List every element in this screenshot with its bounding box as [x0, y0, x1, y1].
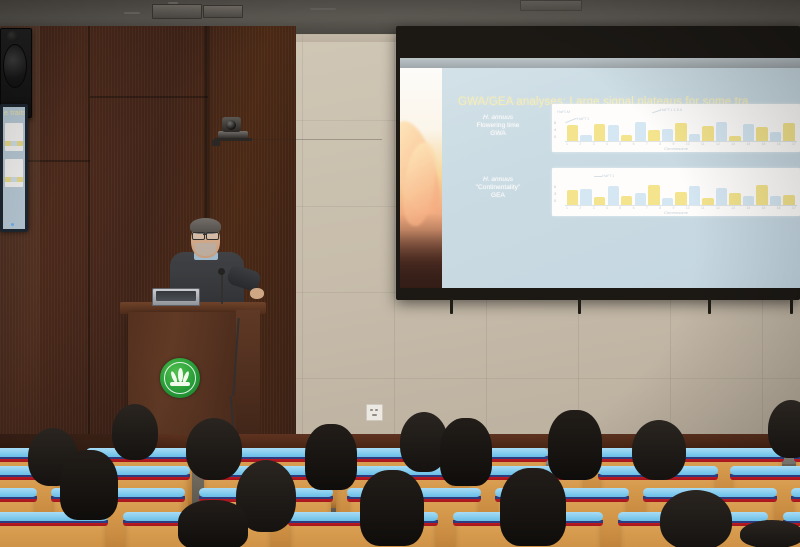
audience-person-head [548, 410, 602, 480]
chromosome-band [743, 196, 754, 205]
chromosome-band [608, 125, 619, 141]
gene-label: HaFLM [557, 109, 570, 114]
audience-person-head [60, 450, 118, 520]
plot-y-axis-label: 3 [554, 191, 556, 196]
row1-species: H. annuus [483, 114, 513, 121]
outlet-hole-icon [372, 414, 377, 416]
logo-leaf-icon [170, 382, 190, 386]
chromosome-band [729, 193, 740, 205]
monitor-power-led-icon [11, 223, 14, 226]
camera-cable [212, 140, 220, 146]
gene-label: HaFT1 [602, 173, 614, 178]
ceiling-light-slit [310, 8, 336, 10]
manhattan-plot-gwa: HaFLM HaFT1 HaFT1 1.5.6 8 4 0 1234567891… [552, 104, 800, 152]
presenter-beard [195, 243, 216, 256]
audience-person-head [500, 468, 566, 546]
chromosome-band [675, 123, 686, 141]
chromosome-band [770, 196, 781, 205]
audience-person-head [178, 500, 248, 547]
eyeglasses-bridge [203, 234, 206, 235]
side-monitor-title: e traits [4, 110, 25, 117]
chromosome-band [567, 190, 578, 205]
slide-row-label-2: H. annuus "Continentality" GEA [452, 176, 544, 201]
plot-x-axis-title: Chromosome [552, 210, 800, 215]
screen-weight-tab [450, 298, 453, 314]
presentation-slide: GWA/GEA analyses: Large signal plateaus … [400, 68, 800, 288]
wall-wire [252, 139, 382, 140]
gene-leader-line [594, 176, 602, 177]
chromosome-band [689, 186, 700, 205]
chromosome-band [594, 197, 605, 205]
chromosome-band [567, 125, 578, 141]
chair-top-rail [0, 488, 37, 497]
chromosome-band [783, 123, 794, 141]
row1-line2: Flowering time [477, 122, 520, 129]
chromosome-band [675, 192, 686, 205]
ceiling-light-slit [124, 12, 140, 14]
ceiling-light-slit [168, 2, 178, 4]
chromosome-band [716, 188, 727, 205]
chromosome-band [689, 134, 700, 141]
outlet-hole-icon [370, 409, 373, 411]
speaker-tweeter-icon [7, 31, 18, 42]
chromosome-band [702, 126, 713, 141]
audience-person-head [360, 470, 424, 546]
chromosome-band [783, 195, 794, 205]
screen-weight-tab [578, 298, 581, 314]
camera-base [218, 131, 248, 138]
ceiling-vent-icon [152, 4, 202, 19]
row2-line2: "Continentality" [476, 184, 521, 191]
audience-person-head [740, 520, 800, 547]
presenter-hand [250, 288, 264, 299]
audience-person-head [305, 424, 357, 490]
projection-screen-topbar [400, 58, 800, 68]
chromosome-band [648, 130, 659, 141]
plot-canvas: HaFT1 6 3 0 1234567891011121314151617 Ch… [552, 168, 800, 216]
audience-person-head [660, 490, 732, 547]
eyeglasses-icon [206, 232, 219, 240]
audience-person-head [632, 420, 686, 480]
chromosome-band [635, 122, 646, 141]
outlet-hole-icon [375, 409, 378, 411]
audience-person-head [186, 418, 242, 480]
wood-wall-seam [90, 96, 208, 98]
plot-x-axis-title: Chromosome [552, 146, 800, 151]
sunflower-image-strip [400, 68, 442, 288]
slide-row-label-1: H. annuus Flowering time GWA [452, 114, 544, 139]
screen-weight-tab [708, 298, 711, 314]
side-monitor-screen: e traits [3, 107, 25, 229]
plot-top-annotation: HaFT1 1.5.6 [660, 107, 682, 112]
chromosome-band [770, 132, 781, 141]
chromosome-band [594, 124, 605, 141]
row2-line3: GEA [491, 192, 505, 199]
chair-top-rail [791, 488, 800, 497]
side-monitor-plot-panel [5, 159, 23, 187]
chromosome-band [702, 198, 713, 205]
row1-line3: GWA [490, 130, 506, 137]
microphone-stem [221, 272, 223, 304]
side-monitor-plot-panel [5, 123, 23, 151]
screen-weight-tab [790, 298, 793, 314]
chromosome-band [756, 127, 767, 141]
chromosome-band [662, 198, 673, 205]
chromosome-band [608, 186, 619, 205]
audience-person-head [440, 418, 492, 486]
audience-chair [0, 516, 106, 547]
chromosome-band [756, 185, 767, 205]
plot-y-axis-label: 6 [554, 184, 556, 189]
laptop-screen [156, 291, 196, 301]
chromosome-band [743, 124, 754, 141]
plot-y-axis-label: 0 [554, 134, 556, 139]
camera-lens-icon [226, 120, 236, 130]
speaker-woofer-icon [3, 44, 27, 88]
microphone-head-icon [218, 268, 225, 275]
manhattan-band [5, 141, 23, 146]
chair-top-rail [783, 512, 800, 521]
side-display-monitor[interactable]: e traits [0, 104, 28, 232]
manhattan-points-area [566, 183, 796, 205]
chair-top-rail [676, 448, 784, 457]
plot-y-axis-label: 0 [554, 198, 556, 203]
row2-species: H. annuus [483, 176, 513, 183]
audience-person-head [112, 404, 158, 460]
manhattan-band [5, 177, 23, 182]
plot-canvas: HaFLM HaFT1 HaFT1 1.5.6 8 4 0 1234567891… [552, 104, 800, 152]
wall-outlet-plate[interactable] [366, 404, 383, 421]
chromosome-band [635, 193, 646, 205]
manhattan-plot-gea: HaFT1 6 3 0 1234567891011121314151617 Ch… [552, 168, 800, 216]
wood-wall-seam [88, 26, 90, 466]
chair-top-rail [730, 466, 800, 475]
institution-logo [160, 358, 200, 398]
chromosome-band [662, 129, 673, 141]
sunflower-disc-shadow [400, 230, 442, 288]
chromosome-band [621, 196, 632, 205]
presenter-laptop[interactable] [152, 288, 200, 306]
chromosome-band [648, 185, 659, 205]
plot-y-axis-label: 4 [554, 127, 556, 132]
ceiling-vent-icon [203, 5, 243, 18]
lecture-hall-photo: e traits GWA/GEA analyses: Large signal … [0, 0, 800, 547]
ceiling-vent-icon [520, 0, 582, 11]
chromosome-band [580, 189, 591, 205]
plot-y-axis-label: 8 [554, 120, 556, 125]
manhattan-points-area [566, 119, 796, 141]
chromosome-band [716, 122, 727, 141]
